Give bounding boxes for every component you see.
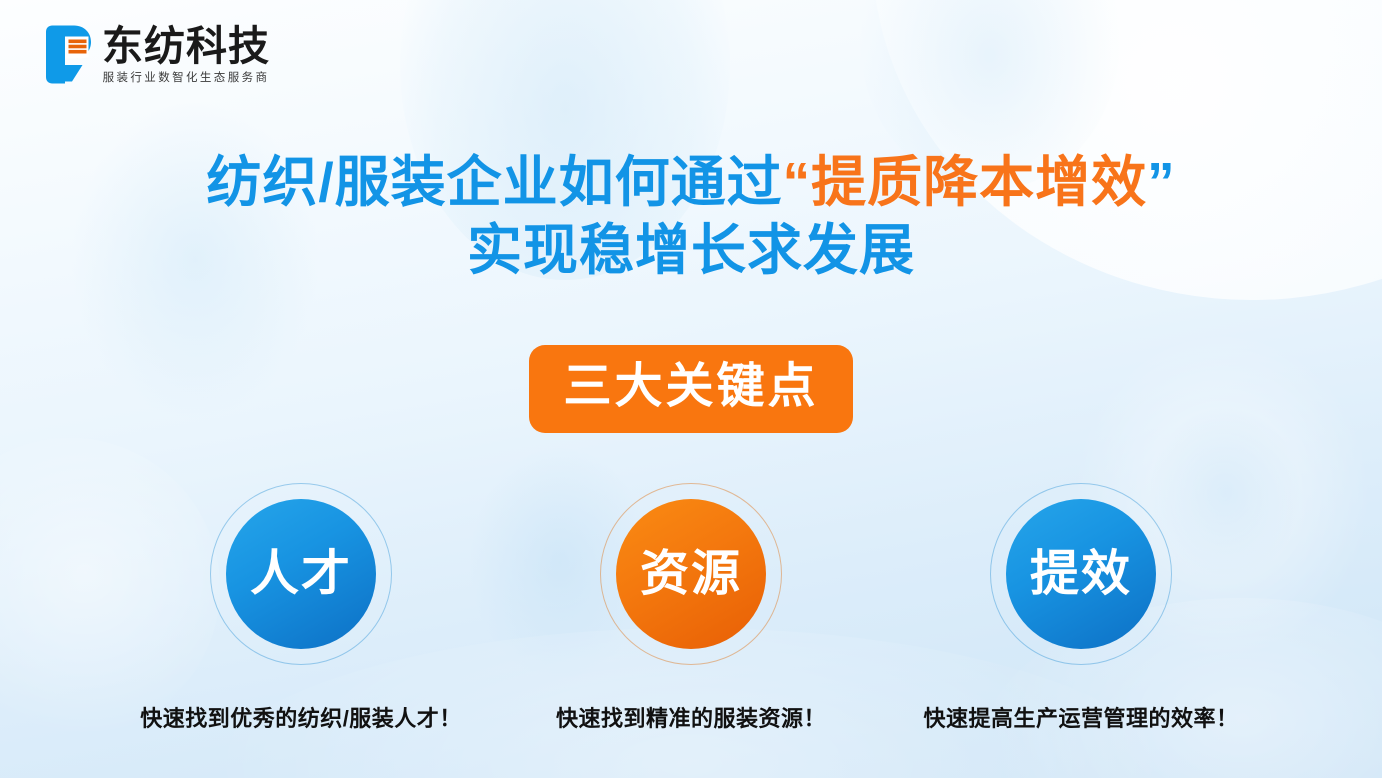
headline-line-2: 实现稳增长求发展 bbox=[0, 216, 1382, 284]
headline-quote-open: “ bbox=[783, 151, 812, 213]
key-point-talent: 人才 快速找到优秀的纺织/服装人才！ bbox=[106, 483, 496, 733]
headline-line-1-emphasis: 提质降本增效 bbox=[811, 151, 1147, 213]
brand-logo-text: 东纺科技 服装行业数智化生态服务商 bbox=[102, 24, 270, 86]
three-key-points-badge: 三大关键点 bbox=[529, 345, 852, 433]
brand-name: 东纺科技 bbox=[102, 24, 270, 68]
brand-tagline: 服装行业数智化生态服务商 bbox=[103, 71, 270, 86]
dongfang-tech-logo-icon bbox=[44, 24, 92, 86]
key-point-caption-efficiency: 快速提高生产运营管理的效率！ bbox=[923, 701, 1238, 733]
brand-logo: 东纺科技 服装行业数智化生态服务商 bbox=[44, 24, 270, 86]
headline-quote-close: ” bbox=[1147, 151, 1176, 213]
headline-line-1: 纺织/服装企业如何通过“提质降本增效” bbox=[0, 148, 1382, 216]
key-point-ring-efficiency: 提效 bbox=[990, 483, 1172, 665]
key-points-row: 人才 快速找到优秀的纺织/服装人才！ 资源 快速找到精准的服装资源！ 提效 快速… bbox=[0, 483, 1382, 733]
key-point-ring-talent: 人才 bbox=[210, 483, 392, 665]
key-point-efficiency: 提效 快速提高生产运营管理的效率！ bbox=[886, 483, 1276, 733]
key-point-caption-resource: 快速找到精准的服装资源！ bbox=[556, 701, 826, 733]
key-point-circle-efficiency: 提效 bbox=[1006, 499, 1156, 649]
key-point-circle-talent: 人才 bbox=[226, 499, 376, 649]
key-point-resource: 资源 快速找到精准的服装资源！ bbox=[496, 483, 886, 733]
headline-block: 纺织/服装企业如何通过“提质降本增效” 实现稳增长求发展 bbox=[0, 148, 1382, 284]
key-point-caption-talent: 快速找到优秀的纺织/服装人才！ bbox=[140, 701, 462, 733]
headline-line-1-primary: 纺织/服装企业如何通过 bbox=[206, 151, 782, 213]
key-point-circle-resource: 资源 bbox=[616, 499, 766, 649]
key-point-ring-resource: 资源 bbox=[600, 483, 782, 665]
badge-container: 三大关键点 bbox=[0, 345, 1382, 433]
slide-canvas: 东纺科技 服装行业数智化生态服务商 纺织/服装企业如何通过“提质降本增效” 实现… bbox=[0, 0, 1382, 778]
